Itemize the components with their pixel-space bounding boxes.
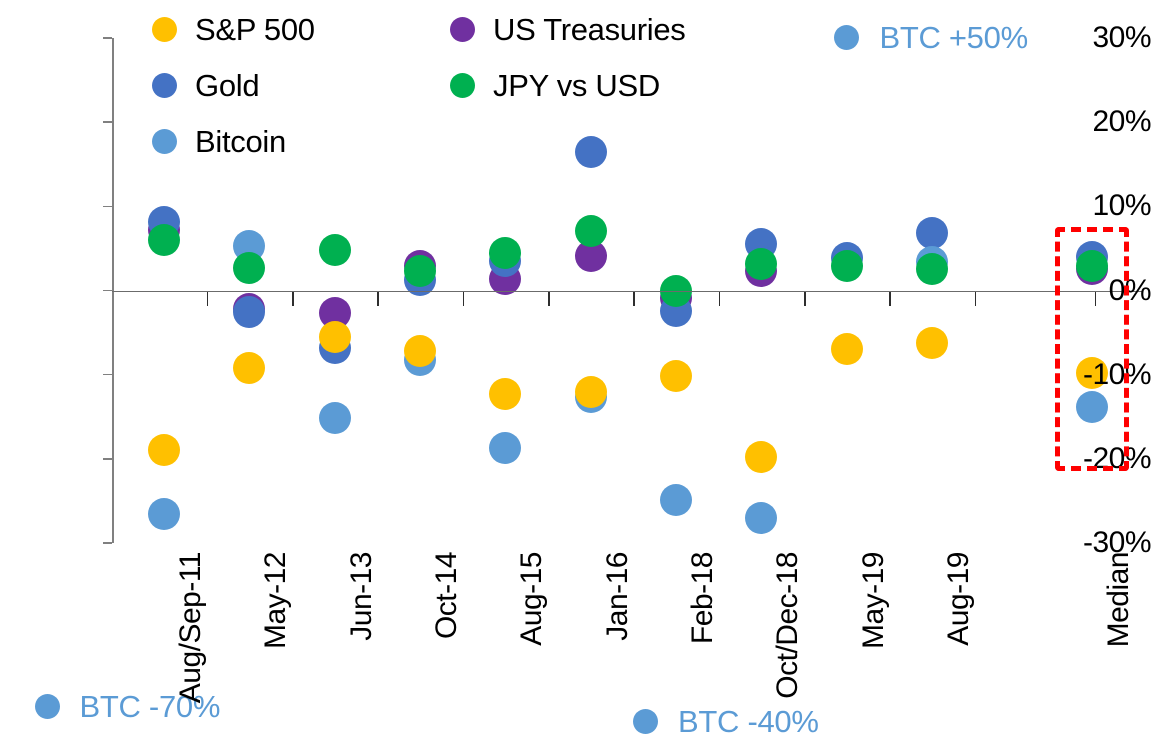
data-point (831, 250, 863, 282)
y-axis-tick-label: -20% (1055, 444, 1151, 474)
x-axis-tick-label: May-19 (859, 552, 889, 649)
data-point (148, 224, 180, 256)
y-axis-tick-label: 30% (1055, 23, 1151, 53)
x-axis-tick (975, 291, 977, 306)
data-point (660, 360, 692, 392)
y-axis-tick-label: 20% (1055, 107, 1151, 137)
data-point (319, 402, 351, 434)
data-point (319, 234, 351, 266)
x-axis-tick (719, 291, 721, 306)
zero-baseline (112, 291, 1142, 293)
y-axis-tick-label: -10% (1055, 360, 1151, 390)
data-point (404, 335, 436, 367)
x-axis-label-1: Aug/Sep-11 (176, 552, 206, 703)
data-point (660, 484, 692, 516)
x-axis-tick (463, 291, 465, 306)
data-point (916, 253, 948, 285)
data-point (745, 248, 777, 280)
chart-canvas: S&P 500GoldBitcoinUS TreasuriesJPY vs US… (0, 0, 1151, 739)
data-point (148, 498, 180, 530)
y-axis-tick (103, 121, 112, 123)
y-axis-tick (103, 542, 112, 544)
data-point (1076, 391, 1108, 423)
x-axis-label-11: Median (1104, 552, 1134, 647)
data-point (489, 378, 521, 410)
y-axis-tick (103, 458, 112, 460)
x-axis-tick (633, 291, 635, 306)
x-axis-label-6: Jan-16 (603, 552, 633, 641)
x-axis-tick-label: Aug-19 (944, 552, 974, 646)
x-axis-tick (548, 291, 550, 306)
annotation-label: BTC -40% (678, 706, 819, 737)
x-axis-tick-label: Aug/Sep-11 (176, 552, 206, 703)
plot-area (112, 38, 1142, 543)
data-point (233, 352, 265, 384)
annotation-marker-icon (35, 694, 60, 719)
x-axis-tick-label: Oct/Dec-18 (773, 552, 803, 699)
data-point (233, 296, 265, 328)
x-axis-label-8: Oct/Dec-18 (773, 552, 803, 699)
data-point (831, 333, 863, 365)
x-axis-label-9: May-19 (859, 552, 889, 649)
data-point (233, 252, 265, 284)
x-axis-tick-label: Jan-16 (603, 552, 633, 641)
x-axis-label-7: Feb-18 (688, 552, 718, 644)
annotation-btc-40: BTC -40% (633, 706, 819, 737)
x-axis-label-10: Aug-19 (944, 552, 974, 646)
x-axis-label-3: Jun-13 (347, 552, 377, 641)
data-point (148, 434, 180, 466)
data-point (745, 502, 777, 534)
y-axis-tick-label: 10% (1055, 191, 1151, 221)
x-axis-tick-label: Median (1104, 552, 1134, 647)
x-axis-tick (889, 291, 891, 306)
x-axis-tick (207, 291, 209, 306)
data-point (575, 376, 607, 408)
data-point (575, 215, 607, 247)
data-point (404, 255, 436, 287)
x-axis-tick-label: May-12 (261, 552, 291, 649)
y-axis-tick-label: 0% (1055, 276, 1151, 306)
y-axis-tick (103, 290, 112, 292)
x-axis-tick-label: Oct-14 (432, 552, 462, 639)
x-axis-tick (377, 291, 379, 306)
y-axis-tick (103, 37, 112, 39)
data-point (489, 237, 521, 269)
x-axis-tick-label: Aug-15 (517, 552, 547, 646)
data-point (916, 217, 948, 249)
x-axis-tick (804, 291, 806, 306)
y-axis-tick (103, 206, 112, 208)
data-point (745, 441, 777, 473)
data-point (575, 136, 607, 168)
data-point (319, 321, 351, 353)
y-axis-tick (103, 374, 112, 376)
data-point (916, 327, 948, 359)
x-axis-label-5: Aug-15 (517, 552, 547, 646)
annotation-marker-icon (633, 709, 658, 734)
x-axis-label-4: Oct-14 (432, 552, 462, 639)
x-axis-tick (292, 291, 294, 306)
x-axis-label-2: May-12 (261, 552, 291, 649)
data-point (489, 432, 521, 464)
x-axis-tick-label: Feb-18 (688, 552, 718, 644)
x-axis-tick-label: Jun-13 (347, 552, 377, 641)
